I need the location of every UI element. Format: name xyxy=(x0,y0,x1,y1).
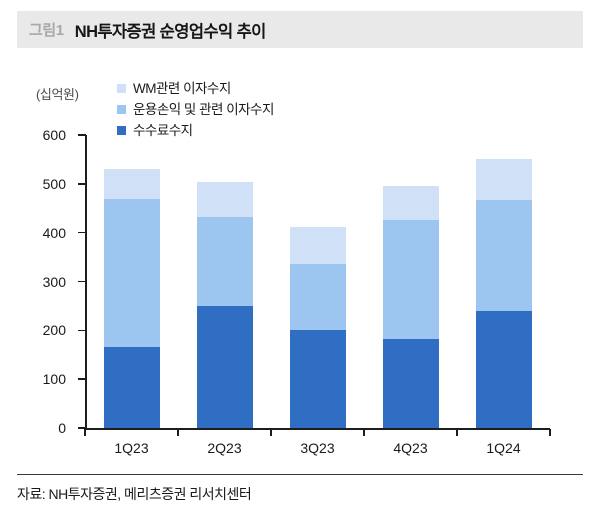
bar-segment[interactable] xyxy=(383,220,439,339)
x-axis-tick xyxy=(456,429,458,436)
x-axis-tick-label: 3Q23 xyxy=(300,440,334,456)
bar-segment[interactable] xyxy=(383,186,439,220)
bar-segment[interactable] xyxy=(290,330,346,428)
y-axis-tick-label-wrap: 0 xyxy=(18,428,70,444)
source-note: 자료: NH투자증권, 메리츠증권 리서치센터 xyxy=(17,484,251,504)
x-axis-tick xyxy=(549,429,551,436)
bar-segment[interactable] xyxy=(197,217,253,306)
page-title: NH투자증권 순영업수익 추이 xyxy=(75,18,266,42)
bar-stack[interactable] xyxy=(197,182,253,428)
y-axis-tick-label: 600 xyxy=(18,127,66,143)
y-axis-tick-label-wrap: 200 xyxy=(18,330,70,346)
x-axis-tick xyxy=(270,429,272,436)
figure-number: 그림1 xyxy=(29,19,64,40)
bar-segment[interactable] xyxy=(290,264,346,330)
y-axis-tick xyxy=(78,378,86,380)
y-axis-tick xyxy=(78,330,86,332)
x-axis-tick-label: 4Q23 xyxy=(393,440,427,456)
bar-segment[interactable] xyxy=(383,339,439,428)
y-axis-tick-label: 300 xyxy=(18,274,66,290)
bar-stack[interactable] xyxy=(104,169,160,428)
y-axis-tick xyxy=(78,232,86,234)
bar-stack[interactable] xyxy=(290,227,346,428)
x-axis-tick xyxy=(177,429,179,436)
x-axis-tick-label: 1Q23 xyxy=(114,440,148,456)
bar-stack[interactable] xyxy=(476,159,532,428)
x-axis-tick-label: 1Q24 xyxy=(486,440,520,456)
x-axis-tick xyxy=(84,429,86,436)
bar-segment[interactable] xyxy=(197,306,253,428)
plot-area: 0100200300400500600 1Q232Q233Q234Q231Q24 xyxy=(0,48,600,466)
x-axis-tick xyxy=(363,429,365,436)
x-axis-tick-label: 2Q23 xyxy=(207,440,241,456)
bar-segment[interactable] xyxy=(476,200,532,311)
y-axis-tick-label-wrap: 100 xyxy=(18,379,70,395)
y-axis-tick-label: 400 xyxy=(18,225,66,241)
bar-segment[interactable] xyxy=(476,311,532,428)
x-axis-line xyxy=(85,428,550,430)
y-axis-tick-label: 200 xyxy=(18,322,66,338)
bar-segment[interactable] xyxy=(104,347,160,428)
footer-divider xyxy=(17,474,583,475)
bar-segment[interactable] xyxy=(290,227,346,264)
y-axis-tick-label: 500 xyxy=(18,176,66,192)
y-axis-tick-label: 100 xyxy=(18,371,66,387)
y-axis-tick-label-wrap: 400 xyxy=(18,233,70,249)
bar-segment[interactable] xyxy=(104,169,160,198)
y-axis-tick xyxy=(78,134,86,136)
bar-stack[interactable] xyxy=(383,186,439,428)
chart-container: (십억원) WM관련 이자수지운용손익 및 관련 이자수지수수료수지 01002… xyxy=(0,48,600,466)
y-axis-tick-label: 0 xyxy=(18,420,66,436)
bar-segment[interactable] xyxy=(197,182,253,217)
bar-segment[interactable] xyxy=(104,199,160,348)
y-axis-tick-label-wrap: 500 xyxy=(18,184,70,200)
y-axis-tick xyxy=(78,281,86,283)
y-axis-tick-label-wrap: 600 xyxy=(18,135,70,151)
y-axis-tick-label-wrap: 300 xyxy=(18,282,70,298)
y-axis-tick xyxy=(78,183,86,185)
figure-header: 그림1 NH투자증권 순영업수익 추이 xyxy=(17,11,583,48)
bar-segment[interactable] xyxy=(476,159,532,200)
